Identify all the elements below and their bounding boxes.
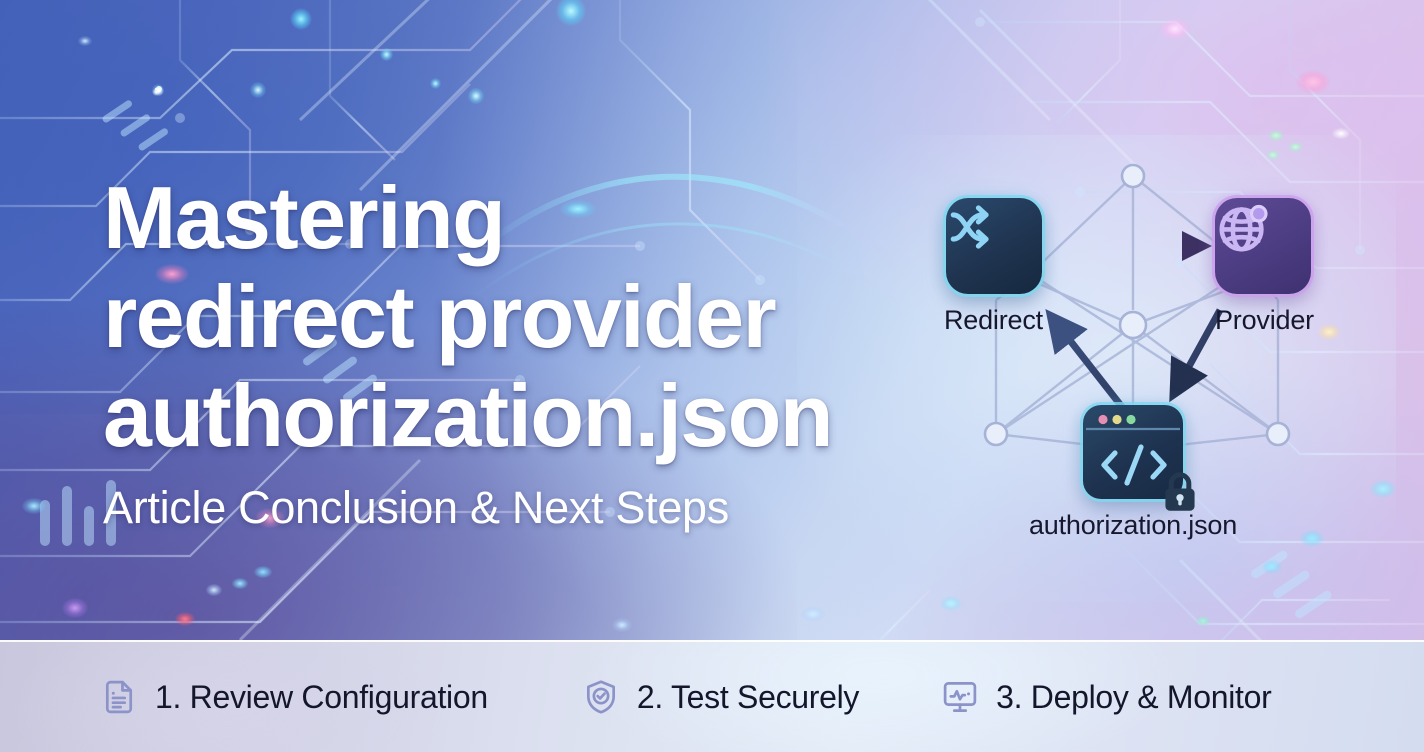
step-label: 2. Test Securely (637, 679, 859, 716)
diagram-node-authorization-json[interactable]: authorization.json (1083, 405, 1183, 499)
diagram-node-redirect[interactable]: Redirect (946, 198, 1042, 336)
network-dot (985, 423, 1007, 445)
document-icon (100, 678, 138, 716)
lock-icon (1157, 469, 1203, 515)
page-title: Mastering redirect provider authorizatio… (103, 168, 923, 465)
diagram-node-provider[interactable]: Provider (1215, 198, 1311, 336)
authorization-json-label: authorization.json (1029, 510, 1237, 541)
network-dot (1122, 165, 1144, 187)
hero-copy: Mastering redirect provider authorizatio… (103, 168, 923, 535)
network-dot (1120, 312, 1146, 338)
step-test-securely[interactable]: 2. Test Securely (582, 678, 859, 716)
shield-check-icon (582, 678, 620, 716)
arrow-provider-to-authorization (1176, 310, 1220, 390)
network-dot (1267, 423, 1289, 445)
provider-label: Provider (1215, 305, 1311, 336)
step-label: 3. Deploy & Monitor (996, 679, 1271, 716)
step-deploy-monitor[interactable]: 3. Deploy & Monitor (941, 678, 1271, 716)
arrow-authorization-to-redirect (1054, 320, 1126, 412)
redirect-label: Redirect (944, 305, 1040, 336)
hero-banner: Mastering redirect provider authorizatio… (0, 0, 1424, 752)
page-subtitle: Article Conclusion & Next Steps (103, 481, 923, 535)
step-label: 1. Review Configuration (155, 679, 488, 716)
hero-section: Mastering redirect provider authorizatio… (0, 0, 1424, 640)
redirect-tile (946, 198, 1042, 294)
step-review-configuration[interactable]: 1. Review Configuration (100, 678, 488, 716)
authorization-json-tile (1083, 405, 1183, 499)
monitor-activity-icon (941, 678, 979, 716)
steps-bar: 1. Review Configuration 2. Test Securely (0, 640, 1424, 752)
provider-tile (1215, 198, 1311, 294)
flow-diagram: Redirect Provi (930, 150, 1370, 570)
